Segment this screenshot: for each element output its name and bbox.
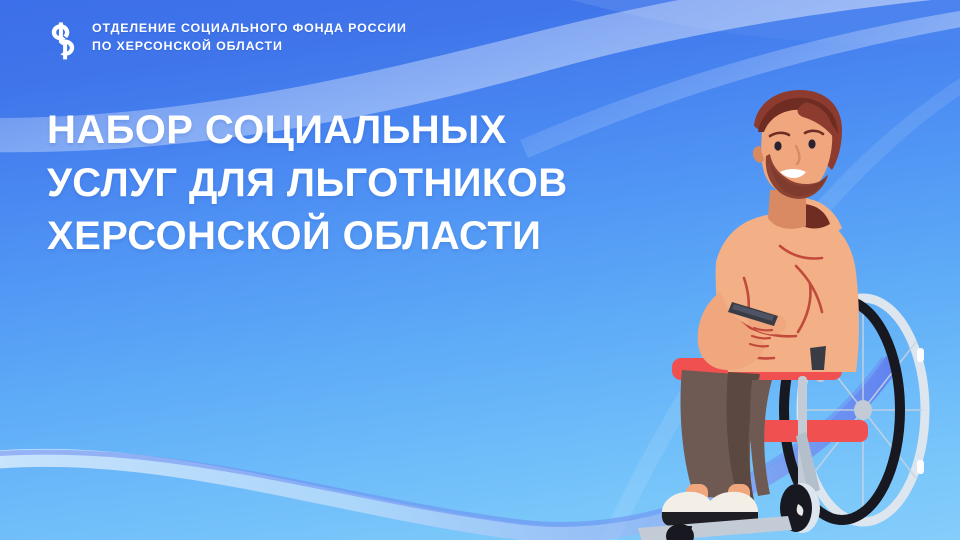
seat-side-object [810, 346, 826, 370]
head [753, 90, 842, 199]
man-in-wheelchair-with-phone-illustration [620, 80, 960, 540]
org-header: ОТДЕЛЕНИЕ СОЦИАЛЬНОГО ФОНДА РОССИИ ПО ХЕ… [46, 20, 407, 60]
org-name: ОТДЕЛЕНИЕ СОЦИАЛЬНОГО ФОНДА РОССИИ ПО ХЕ… [92, 20, 407, 55]
eye-right [808, 139, 815, 148]
eye-left [774, 141, 781, 150]
headline-line-3: ХЕРСОНСКОЙ ОБЛАСТИ [47, 210, 568, 263]
page-title: НАБОР СОЦИАЛЬНЫХ УСЛУГ ДЛЯ ЛЬГОТНИКОВ ХЕ… [47, 104, 568, 262]
headline-line-1: НАБОР СОЦИАЛЬНЫХ [47, 104, 568, 157]
social-fund-banner: ОТДЕЛЕНИЕ СОЦИАЛЬНОГО ФОНДА РОССИИ ПО ХЕ… [0, 0, 960, 540]
sfr-monogram-icon [46, 22, 80, 60]
headline-line-2: УСЛУГ ДЛЯ ЛЬГОТНИКОВ [47, 157, 568, 210]
